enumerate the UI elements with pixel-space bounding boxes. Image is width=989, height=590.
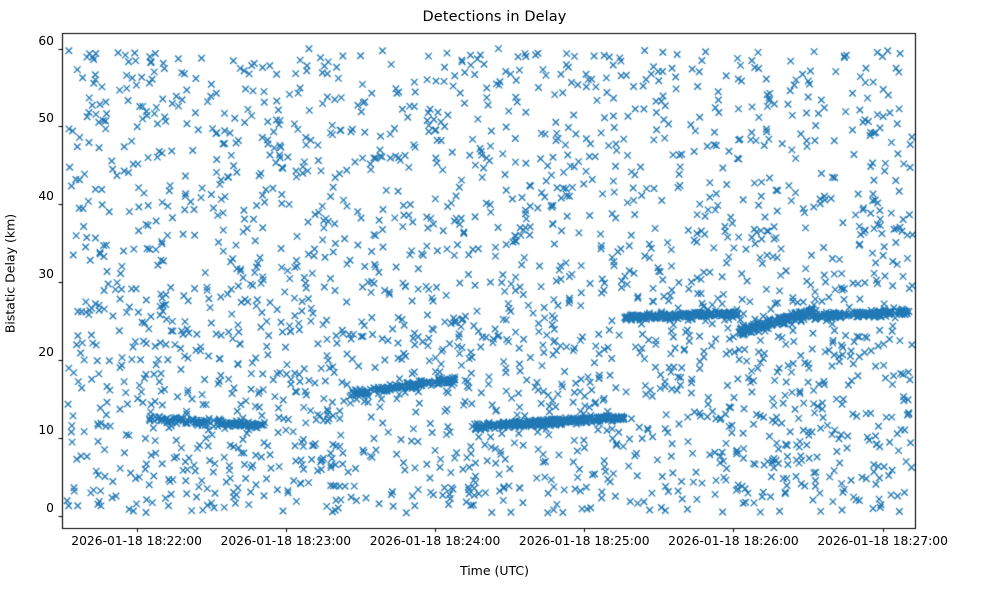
y-tick-label: 50 bbox=[14, 111, 54, 125]
x-tick-label: 2026-01-18 18:27:00 bbox=[817, 534, 948, 548]
scatter-plot-canvas bbox=[0, 0, 989, 590]
x-tick-label: 2026-01-18 18:25:00 bbox=[519, 534, 650, 548]
y-tick-label: 40 bbox=[14, 189, 54, 203]
y-tick-label: 0 bbox=[14, 501, 54, 515]
x-tick-label: 2026-01-18 18:24:00 bbox=[370, 534, 501, 548]
x-tick-label: 2026-01-18 18:26:00 bbox=[668, 534, 799, 548]
x-tick-label: 2026-01-18 18:23:00 bbox=[221, 534, 352, 548]
y-tick-label: 30 bbox=[14, 267, 54, 281]
y-tick-label: 20 bbox=[14, 345, 54, 359]
matplotlib-figure: Detections in Delay Time (UTC) Bistatic … bbox=[0, 0, 989, 590]
x-axis-label: Time (UTC) bbox=[0, 563, 989, 578]
y-tick-label: 10 bbox=[14, 423, 54, 437]
y-tick-label: 60 bbox=[14, 34, 54, 48]
chart-title: Detections in Delay bbox=[0, 9, 989, 25]
x-tick-label: 2026-01-18 18:22:00 bbox=[71, 534, 202, 548]
